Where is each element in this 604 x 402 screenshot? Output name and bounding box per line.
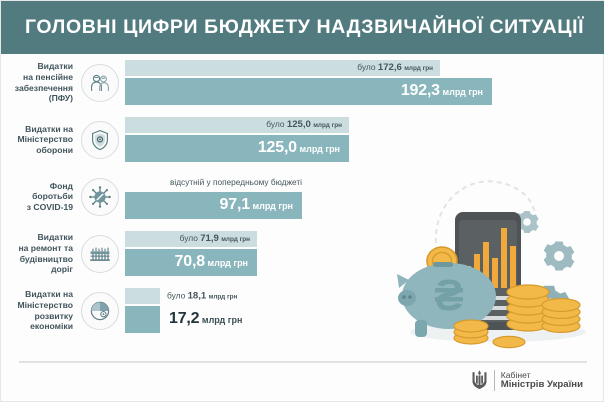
table-row: Видатки на пенсійне забезпечення (ПФУ) б…	[1, 54, 604, 111]
label-line: з COVID-19	[1, 202, 73, 213]
row-label-roads: Видатки на ремонт та будівництво доріг	[1, 232, 79, 274]
piggy-bank-phone-coins-illustration: ₴	[393, 156, 599, 352]
label-line: Видатки на	[1, 124, 73, 135]
label-line: розвитку	[1, 311, 73, 322]
bar-previous-label: було 125,0 млрд грн	[266, 119, 349, 130]
bar-current: 97,1 млрд грн	[125, 192, 302, 219]
bar-previous: було 172,6 млрд грн	[125, 60, 440, 76]
logo-divider	[494, 370, 495, 391]
label-line: на ремонт та	[1, 243, 73, 254]
bar-current: 125,0 млрд грн	[125, 135, 349, 162]
bar-previous: було 125,0 млрд грн	[125, 117, 349, 133]
label-line: Міністерство	[1, 300, 73, 311]
footer: Кабінет Міністрів України	[1, 357, 604, 401]
footer-divider-rule	[19, 361, 587, 363]
bar-current-label: 125,0 млрд грн	[258, 139, 349, 157]
label-line: Міністерство	[1, 134, 73, 145]
footer-label: Кабінет Міністрів України	[501, 370, 583, 391]
cabinet-of-ministers-logo: Кабінет Міністрів України	[471, 369, 583, 391]
bar-current: 70,8 млрд грн	[125, 249, 257, 276]
label-line: боротьби	[1, 191, 73, 202]
bar-previous-label: було 71,9 млрд грн	[180, 233, 257, 244]
bar-previous-note: відсутній у попередньому бюджеті	[125, 174, 302, 190]
bar-current: 192,3 млрд грн	[125, 78, 492, 105]
label-line: доріг	[1, 264, 73, 275]
label-line: забезпечення	[1, 83, 73, 94]
bar-previous-label: було 18,1 млрд грн	[160, 290, 237, 301]
row-bars: було 172,6 млрд грн 192,3 млрд грн	[125, 58, 604, 108]
road-bridge-icon	[81, 235, 119, 273]
bar-previous: було 71,9 млрд грн	[125, 231, 257, 247]
label-line: будівництво	[1, 254, 73, 265]
label-line: (ПФУ)	[1, 93, 73, 104]
infographic-page: ГОЛОВНІ ЦИФРИ БЮДЖЕТУ НАДЗВИЧАЙНОЇ СИТУА…	[0, 0, 604, 402]
bar-previous: було 18,1 млрд грн	[125, 288, 160, 304]
bar-current-label: 192,3 млрд грн	[401, 82, 492, 100]
label-line: оборони	[1, 145, 73, 156]
page-title: ГОЛОВНІ ЦИФРИ БЮДЖЕТУ НАДЗВИЧАЙНОЇ СИТУА…	[1, 16, 584, 39]
bar-previous-label: було 172,6 млрд грн	[357, 62, 440, 73]
row-label-defence: Видатки на Міністерство оборони	[1, 124, 79, 156]
label-line: Видатки на	[1, 289, 73, 300]
bar-current-label: 70,8 млрд грн	[175, 253, 257, 271]
virus-icon	[81, 178, 119, 216]
bar-current-label: 97,1 млрд грн	[220, 196, 302, 214]
row-label-economy: Видатки на Міністерство розвитку економі…	[1, 289, 79, 331]
label-line: Видатки	[1, 232, 73, 243]
header-band: ГОЛОВНІ ЦИФРИ БЮДЖЕТУ НАДЗВИЧАЙНОЇ СИТУА…	[1, 1, 604, 54]
elderly-couple-icon	[81, 64, 119, 102]
label-line: Фонд	[1, 181, 73, 192]
hryvnia-symbol: ₴	[434, 271, 463, 320]
row-label-covid-fund: Фонд боротьби з COVID-19	[1, 181, 79, 213]
gear-icon	[544, 241, 575, 270]
ukraine-trident-emblem	[471, 369, 488, 391]
footer-line-2: Міністрів України	[501, 380, 583, 390]
bar-current: 17,2 млрд грн	[125, 306, 160, 333]
economy-pie-icon	[81, 292, 119, 330]
bar-current-label: 17,2 млрд грн	[160, 310, 242, 328]
label-line: економіки	[1, 321, 73, 332]
label-line: на пенсійне	[1, 72, 73, 83]
shield-icon	[81, 121, 119, 159]
label-line: Видатки	[1, 61, 73, 72]
row-label-pension: Видатки на пенсійне забезпечення (ПФУ)	[1, 61, 79, 103]
